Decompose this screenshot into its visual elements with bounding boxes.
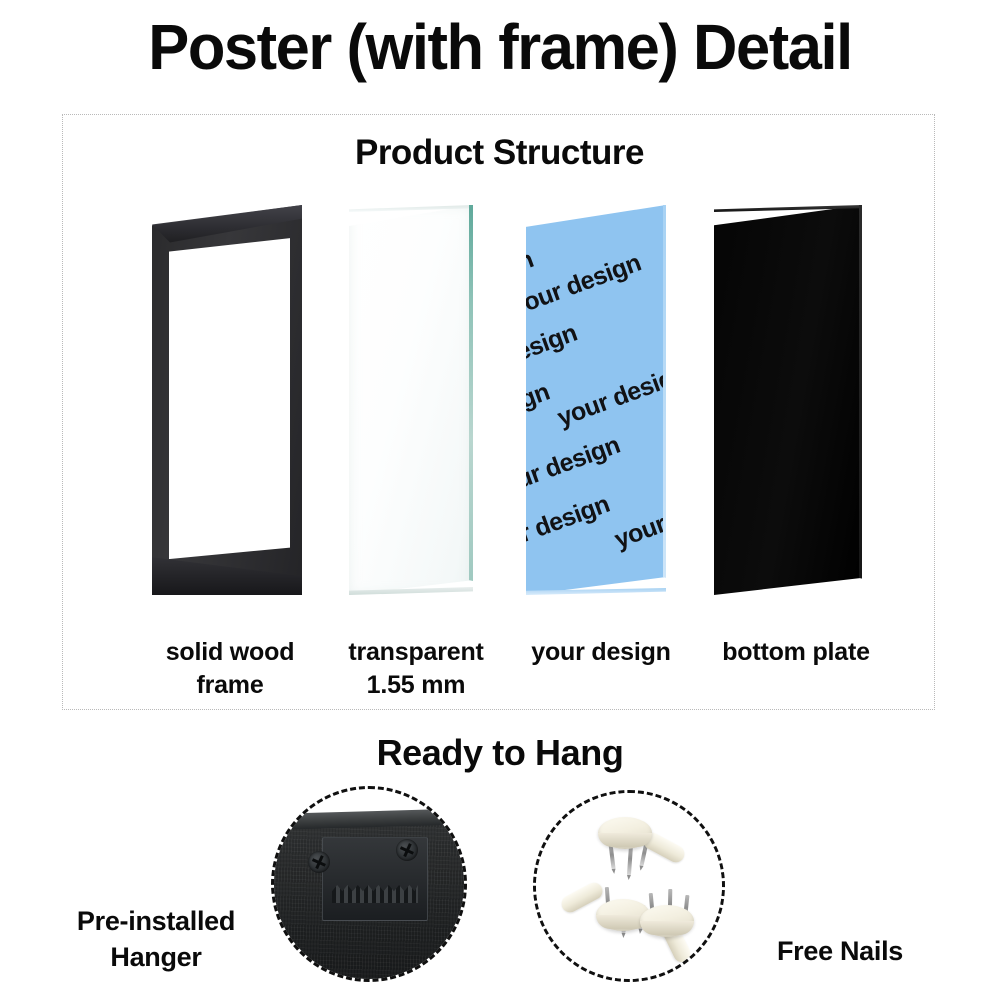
design-watermark-group: your design your design your design your… bbox=[526, 205, 666, 595]
watermark-text: your design bbox=[554, 359, 666, 433]
phillips-screw-icon bbox=[396, 839, 418, 861]
plate-graphic bbox=[714, 205, 862, 595]
hanger-photo-circle bbox=[271, 786, 467, 982]
label-free-nails: Free Nails bbox=[720, 936, 960, 967]
caption-line-1: bottom plate bbox=[722, 638, 870, 666]
section-heading-product-structure: Product Structure bbox=[63, 133, 936, 173]
nail-disc bbox=[598, 817, 652, 849]
design-surface: your design your design your design your… bbox=[526, 205, 666, 595]
glass-graphic bbox=[349, 205, 473, 595]
phillips-screw-icon bbox=[308, 851, 330, 873]
page-title: Poster (with frame) Detail bbox=[20, 14, 980, 81]
design-right-edge bbox=[663, 205, 666, 595]
watermark-text: your design bbox=[611, 481, 666, 555]
section-heading-ready-to-hang: Ready to Hang bbox=[0, 732, 1000, 774]
caption-bottom-plate: bottom plate bbox=[696, 636, 896, 669]
plate-right-edge bbox=[859, 205, 862, 595]
nail-pin bbox=[627, 845, 633, 875]
panel-transparent-sheet bbox=[349, 205, 473, 595]
nail-disc-rim bbox=[598, 833, 652, 847]
caption-transparent-sheet: transparent 1.55 mm bbox=[318, 636, 514, 702]
nails-photo-circle bbox=[533, 790, 725, 982]
caption-line-2: frame bbox=[132, 669, 328, 702]
glass-surface bbox=[349, 205, 473, 595]
nails-photo bbox=[536, 793, 722, 979]
watermark-text: your design bbox=[526, 378, 554, 452]
watermark-text: your design bbox=[526, 249, 645, 323]
frame-graphic bbox=[152, 205, 302, 595]
caption-line-1: transparent bbox=[348, 638, 483, 666]
plate-surface bbox=[714, 205, 862, 595]
caption-your-design: your design bbox=[508, 636, 694, 669]
caption-line-1: your design bbox=[531, 638, 671, 666]
label-pre-installed-hanger: Pre-installed Hanger bbox=[36, 904, 276, 975]
glass-right-edge bbox=[469, 205, 473, 595]
nail-disc bbox=[640, 905, 694, 937]
label-line-1: Pre-installed bbox=[77, 906, 235, 936]
caption-line-2: 1.55 mm bbox=[318, 669, 514, 702]
panel-bottom-plate bbox=[714, 205, 862, 595]
panel-your-design: your design your design your design your… bbox=[526, 205, 666, 595]
caption-solid-wood-frame: solid wood frame bbox=[132, 636, 328, 702]
nail-disc-rim bbox=[640, 921, 694, 935]
label-line-2: Hanger bbox=[36, 940, 276, 976]
design-graphic: your design your design your design your… bbox=[526, 205, 666, 595]
watermark-text: your design bbox=[526, 431, 624, 505]
caption-line-1: solid wood bbox=[166, 638, 295, 666]
label-line-1: Free Nails bbox=[777, 936, 903, 966]
watermark-text: your design bbox=[526, 490, 614, 564]
exploded-view-stage: your design your design your design your… bbox=[0, 205, 1000, 595]
frame-inner-opening bbox=[169, 238, 291, 559]
panel-solid-wood-frame bbox=[152, 205, 302, 595]
